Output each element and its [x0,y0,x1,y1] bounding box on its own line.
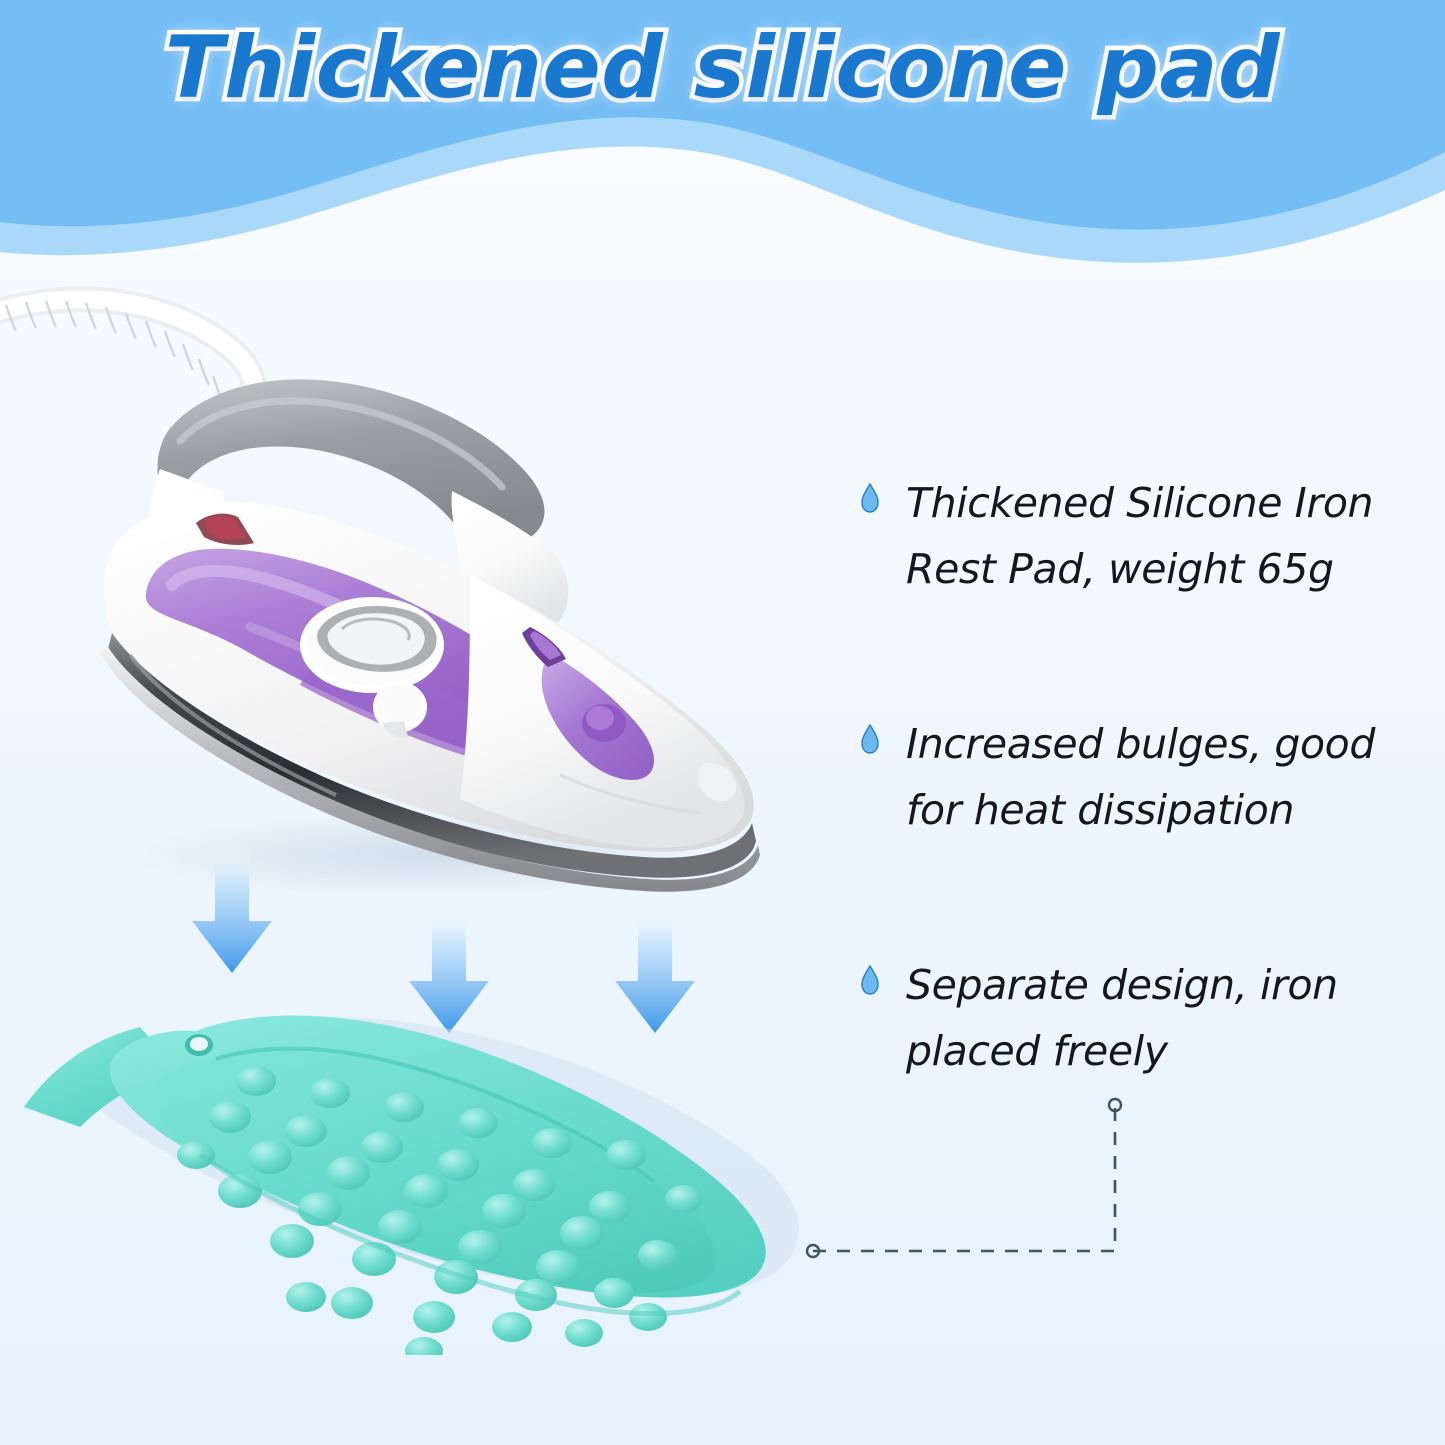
iron-drop-bullet-icon [860,965,880,995]
feature-item: Thickened Silicone Iron Rest Pad, weight… [860,470,1420,603]
iron-drop-bullet-icon [860,483,880,513]
product-infographic: Thickened silicone pad [0,0,1445,1445]
callout-endpoint-end [1109,1099,1121,1111]
feature-item: Separate design, iron placed freely [860,952,1420,1085]
product-illustration [0,255,860,1355]
feature-list: Thickened Silicone Iron Rest Pad, weight… [860,470,1420,1084]
iron-drop-bullet-icon [860,724,880,754]
feature-text: Increased bulges, good for heat dissipat… [906,711,1420,844]
feature-text: Thickened Silicone Iron Rest Pad, weight… [906,470,1420,603]
arrow-down-3 [615,905,695,1033]
header-banner: Thickened silicone pad [0,0,1445,290]
pad-hanging-hole [185,1034,213,1056]
pad-inner-recess [152,1049,716,1294]
feature-text: Separate design, iron placed freely [906,952,1420,1085]
banner-wave-primary [0,0,1445,230]
silicone-iron-rest-pad [24,1016,799,1355]
feature-item: Increased bulges, good for heat dissipat… [860,711,1420,844]
arrow-down-2 [409,905,489,1033]
steam-control-dial [300,597,444,693]
